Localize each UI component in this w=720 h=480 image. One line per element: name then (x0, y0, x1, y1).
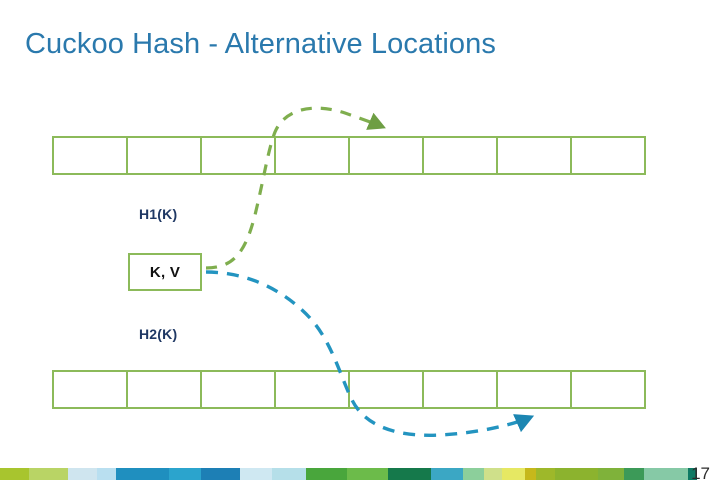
hash-table-2-cell-6[interactable] (424, 372, 498, 407)
hash-table-1-cell-7[interactable] (498, 138, 572, 173)
key-value-box: K, V (128, 253, 202, 291)
color-bar-segment-3 (68, 468, 97, 480)
color-bar-segment-4 (97, 468, 115, 480)
page-number: 17 (691, 464, 710, 480)
color-bar-segment-7 (201, 468, 241, 480)
hash-table-2-cell-1[interactable] (54, 372, 128, 407)
color-bar-segment-10 (306, 468, 347, 480)
color-bar-segment-17 (525, 468, 536, 480)
decorative-color-bar (0, 468, 720, 480)
hash-table-2-cell-3[interactable] (202, 372, 276, 407)
color-bar-segment-11 (347, 468, 388, 480)
h1-arrow (206, 108, 383, 268)
hash-table-2 (52, 370, 646, 409)
h2-arrow (206, 272, 531, 435)
color-bar-segment-21 (624, 468, 644, 480)
page-title: Cuckoo Hash - Alternative Locations (25, 28, 496, 61)
color-bar-segment-14 (463, 468, 484, 480)
hash-table-1-cell-3[interactable] (202, 138, 276, 173)
color-bar-segment-6 (169, 468, 201, 480)
hash-function-label-h1: H1(K) (139, 206, 177, 222)
hash-table-1-cell-5[interactable] (350, 138, 424, 173)
color-bar-segment-20 (598, 468, 624, 480)
color-bar-segment-12 (388, 468, 431, 480)
color-bar-segment-5 (116, 468, 169, 480)
color-bar-segment-18 (536, 468, 556, 480)
color-bar-segment-1 (0, 468, 29, 480)
hash-table-2-cell-8[interactable] (572, 372, 644, 407)
hash-table-2-cell-5[interactable] (350, 372, 424, 407)
color-bar-segment-19 (555, 468, 598, 480)
color-bar-segment-8 (240, 468, 272, 480)
color-bar-segment-22 (644, 468, 688, 480)
color-bar-segment-16 (502, 468, 525, 480)
hash-function-label-h2: H2(K) (139, 326, 177, 342)
hash-table-2-cell-2[interactable] (128, 372, 202, 407)
hash-table-1-cell-4[interactable] (276, 138, 350, 173)
hash-table-2-cell-7[interactable] (498, 372, 572, 407)
hash-table-1-cell-8[interactable] (572, 138, 644, 173)
hash-table-1-cell-2[interactable] (128, 138, 202, 173)
color-bar-segment-9 (272, 468, 305, 480)
hash-table-1-cell-1[interactable] (54, 138, 128, 173)
color-bar-segment-2 (29, 468, 69, 480)
hash-table-1 (52, 136, 646, 175)
hash-table-1-cell-6[interactable] (424, 138, 498, 173)
hash-table-2-cell-4[interactable] (276, 372, 350, 407)
color-bar-segment-15 (484, 468, 502, 480)
color-bar-segment-13 (431, 468, 463, 480)
slide-canvas: Cuckoo Hash - Alternative Locations K, V… (0, 0, 720, 480)
